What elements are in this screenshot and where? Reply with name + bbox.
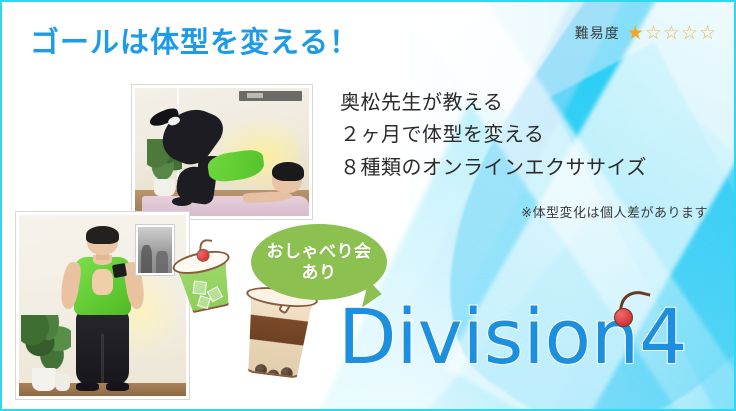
brand-logo: Division4 <box>338 294 687 380</box>
star-empty-icon: ☆ <box>663 24 680 43</box>
wall-picture <box>135 224 175 276</box>
star-empty-icon: ☆ <box>681 24 698 43</box>
speech-bubble-line-1: おしゃべり会 <box>267 241 372 262</box>
difficulty-label: 難易度 <box>575 23 620 43</box>
description-line-1: 奥松先生が教える <box>340 87 720 119</box>
page-title: ゴールは体型を変える！ <box>30 19 359 61</box>
star-empty-icon: ☆ <box>699 24 716 43</box>
melon-float-icon <box>168 244 242 318</box>
description-line-2: ２ヶ月で体型を変える <box>340 119 720 151</box>
cherry-icon <box>606 290 652 332</box>
difficulty-rating: 難易度 ★ ☆ ☆ ☆ ☆ <box>575 23 716 43</box>
star-filled-icon: ★ <box>627 24 644 43</box>
description-block: 奥松先生が教える ２ヶ月で体型を変える ８種類のオンラインエクササイズ <box>340 87 720 184</box>
photo-exercise <box>131 84 313 220</box>
speech-bubble-line-2: あり <box>302 262 337 283</box>
star-rating: ★ ☆ ☆ ☆ ☆ <box>627 24 716 43</box>
star-empty-icon: ☆ <box>645 24 662 43</box>
promo-slide: ゴールは体型を変える！ 難易度 ★ ☆ ☆ ☆ ☆ 奥松先生が教える ２ヶ月で体… <box>0 0 736 411</box>
speech-bubble: おしゃべり会 あり <box>251 224 387 300</box>
disclaimer-note: ※体型変化は個人差があります <box>340 202 708 221</box>
description-line-3: ８種類のオンラインエクササイズ <box>340 152 720 184</box>
